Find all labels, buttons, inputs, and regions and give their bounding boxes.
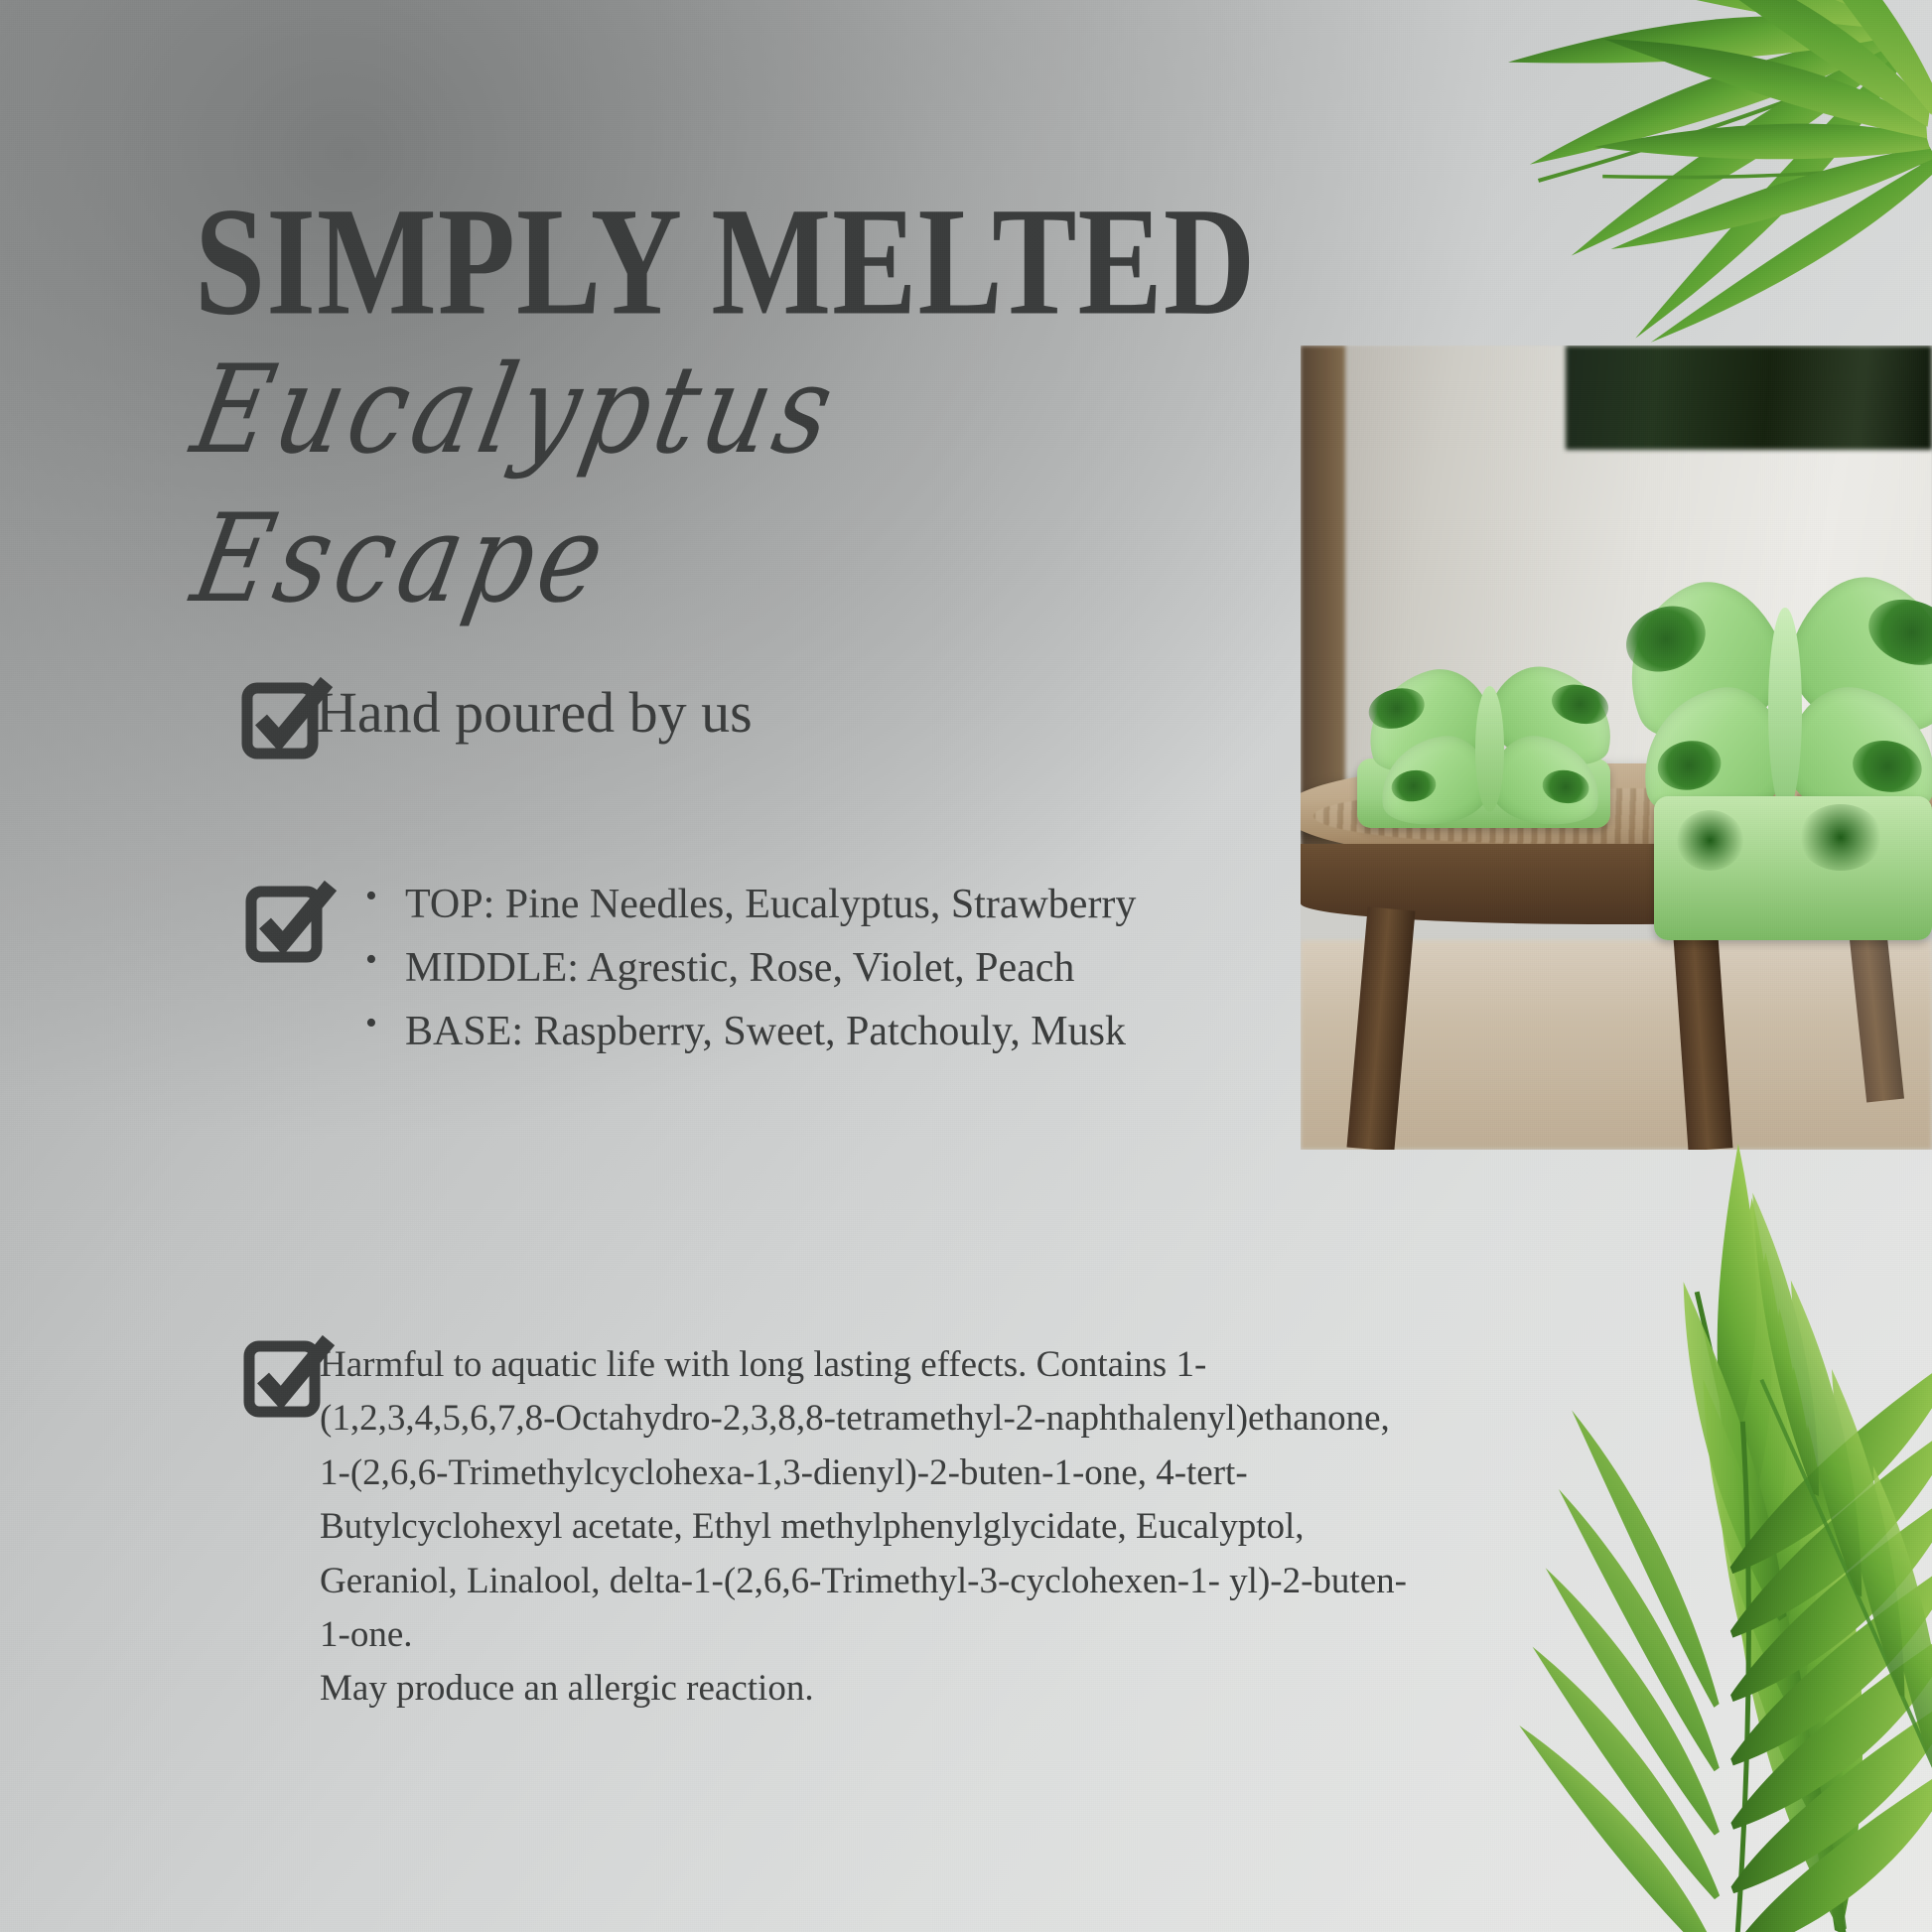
product-name-line-2: Escape bbox=[185, 516, 596, 620]
brand-title: SIMPLY MELTED bbox=[195, 184, 1256, 339]
list-item: MIDDLE: Agrestic, Rose, Violet, Peach bbox=[405, 937, 1229, 999]
list-item: BASE: Raspberry, Sweet, Patchouly, Musk bbox=[405, 1001, 1229, 1062]
checkbox-checked-icon bbox=[244, 680, 320, 756]
fragrance-notes-wrapper: TOP: Pine Needles, Eucalyptus, Strawberr… bbox=[359, 874, 1229, 1064]
wax-melt-front-slab bbox=[1654, 796, 1932, 941]
photo-dark-panel bbox=[1566, 345, 1932, 450]
fragrance-notes-list: TOP: Pine Needles, Eucalyptus, Strawberr… bbox=[359, 874, 1229, 1062]
script-text-2: Escape bbox=[185, 497, 620, 620]
hand-poured-label: Hand poured by us bbox=[316, 684, 753, 742]
palm-frond-icon bbox=[1158, 0, 1932, 397]
checkbox-checked-icon bbox=[248, 884, 324, 959]
checkbox-checked-icon bbox=[246, 1338, 322, 1414]
script-text-1: Eucalyptus bbox=[185, 348, 848, 471]
warning-paragraph-1: Harmful to aquatic life with long lastin… bbox=[320, 1338, 1410, 1662]
wax-melt-butterfly-left bbox=[1370, 667, 1610, 828]
green-butterfly-wax-melts-photo bbox=[1301, 345, 1932, 1150]
fragrance-notes-row: TOP: Pine Needles, Eucalyptus, Strawberr… bbox=[248, 884, 1229, 1064]
warning-paragraph-2: May produce an allergic reaction. bbox=[320, 1662, 1410, 1716]
poster-canvas: SIMPLY MELTED Eucalyptus Escape Hand pou… bbox=[0, 0, 1932, 1932]
safety-warning-text: Harmful to aquatic life with long lastin… bbox=[320, 1338, 1410, 1717]
hand-poured-row: Hand poured by us bbox=[244, 680, 753, 756]
product-name-line-1: Eucalyptus bbox=[185, 367, 824, 471]
safety-warning-row: Harmful to aquatic life with long lastin… bbox=[246, 1338, 1410, 1717]
list-item: TOP: Pine Needles, Eucalyptus, Strawberr… bbox=[405, 874, 1229, 935]
